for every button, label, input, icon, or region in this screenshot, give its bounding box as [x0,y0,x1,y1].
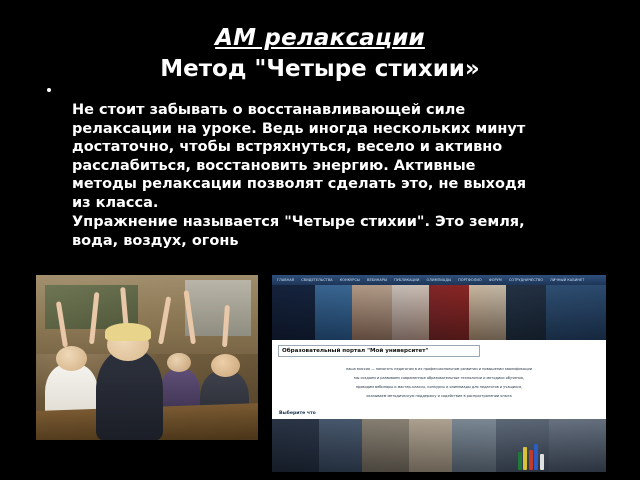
nav-item-5[interactable]: ОЛИМПИАДЫ [427,278,452,282]
nav-item-3[interactable]: ВЕБИНАРЫ [367,278,387,282]
nav-item-6[interactable]: ПОРТФОЛИО [458,278,482,282]
nav-item-4[interactable]: ПУБЛИКАЦИИ [394,278,419,282]
website-screenshot: ГЛАВНАЯ СВИДЕТЕЛЬСТВА КОНКУРСЫ ВЕБИНАРЫ … [272,275,606,472]
hero-photo-3 [352,285,392,340]
hero-photo-2 [315,285,352,340]
nav-item-1[interactable]: СВИДЕТЕЛЬСТВА [301,278,333,282]
site-navigation-bar[interactable]: ГЛАВНАЯ СВИДЕТЕЛЬСТВА КОНКУРСЫ ВЕБИНАРЫ … [272,275,606,285]
body-paragraph-1: Не стоит забывать о восстанавливающей си… [72,101,542,212]
site-banner: Образовательный портал "Мой университет" [278,345,480,357]
nav-item-7[interactable]: ФОРУМ [489,278,502,282]
bottom-photo-3 [362,419,409,472]
bottom-photo-4 [409,419,452,472]
photo-child-left-head [56,346,87,371]
book-spine-5 [540,454,544,470]
classroom-photo [36,275,258,440]
site-paragraph-line-3: проводим вебинары и мастер-классы, конку… [288,385,590,390]
nav-item-9[interactable]: ЛИЧНЫЙ КАБИНЕТ [550,278,584,282]
site-paragraph-line-4: оказываем методическую поддержку и содей… [288,394,590,399]
photo-foreground-child-hair [105,323,152,341]
book-spine-2 [523,447,527,470]
hero-photo-5 [429,285,469,340]
site-bottom-collage [272,419,606,472]
site-hero-collage [272,285,606,340]
hero-photo-1 [272,285,315,340]
site-section-label: Выберите что [279,411,316,416]
book-spine-1 [518,452,522,470]
bottom-photo-7 [549,419,606,472]
hero-photo-8 [546,285,606,340]
slide-title-block: АМ релаксации Метод "Четыре стихии» [0,24,640,84]
body-paragraph-2: Упражнение называется "Четыре стихии". Э… [72,213,542,250]
hero-photo-4 [392,285,429,340]
photo-foreground-child-body [96,349,163,440]
site-paragraph-line-2: мы создаем и развиваем современные образ… [288,376,590,381]
hero-photo-7 [506,285,546,340]
slide-body-text: Не стоит забывать о восстанавливающей си… [72,101,542,250]
bottom-photo-5 [452,419,495,472]
presentation-slide: АМ релаксации Метод "Четыре стихии» Не с… [0,0,640,480]
nav-item-8[interactable]: СОТРУДНИЧЕСТВО [509,278,543,282]
photo-window [185,280,252,336]
book-spine-4 [534,444,538,470]
slide-title-primary: АМ релаксации [0,24,640,52]
book-spine-3 [529,450,533,470]
slide-title-secondary: Метод "Четыре стихии» [0,54,640,84]
bottom-photo-2 [319,419,362,472]
hero-photo-6 [469,285,506,340]
nav-item-0[interactable]: ГЛАВНАЯ [277,278,294,282]
bottom-photo-1 [272,419,319,472]
nav-item-2[interactable]: КОНКУРСЫ [340,278,360,282]
site-paragraph-line-1: наша миссия — помогать педагогам в их пр… [288,367,590,372]
books-stack-icon [518,438,548,470]
site-banner-title: Образовательный портал "Мой университет" [282,348,428,354]
bullet-marker-icon [47,88,51,92]
